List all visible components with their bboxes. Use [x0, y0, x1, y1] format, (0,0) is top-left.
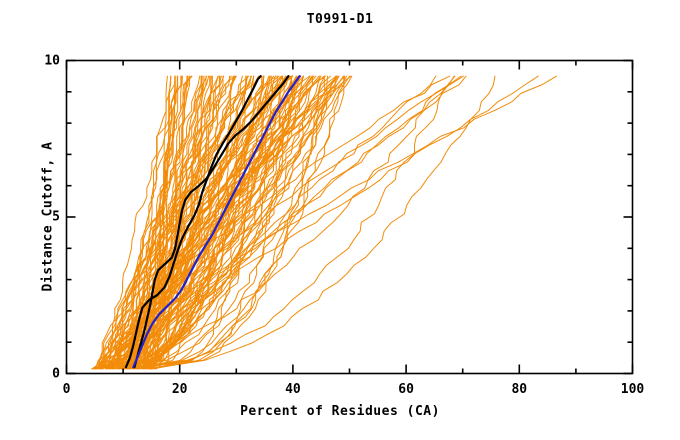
y-tick-label-10: 10: [38, 53, 60, 68]
y-tick-label-0: 0: [38, 366, 60, 381]
x-axis-label: Percent of Residues (CA): [0, 404, 680, 419]
x-tick-label-20: 20: [172, 382, 188, 397]
model-curve-bundle: [92, 76, 557, 369]
x-tick-label-0: 0: [63, 382, 71, 397]
chart-figure: T0991-D1 Distance Cutoff, A Percent of R…: [0, 0, 680, 440]
x-tick-label-80: 80: [511, 382, 527, 397]
x-tick-label-40: 40: [285, 382, 301, 397]
page-title: T0991-D1: [0, 12, 680, 27]
y-tick-label-5: 5: [38, 210, 60, 225]
x-tick-label-100: 100: [621, 382, 644, 397]
x-tick-label-60: 60: [398, 382, 414, 397]
plot-canvas: [0, 0, 680, 440]
prediction-curves-layer: [92, 76, 557, 369]
